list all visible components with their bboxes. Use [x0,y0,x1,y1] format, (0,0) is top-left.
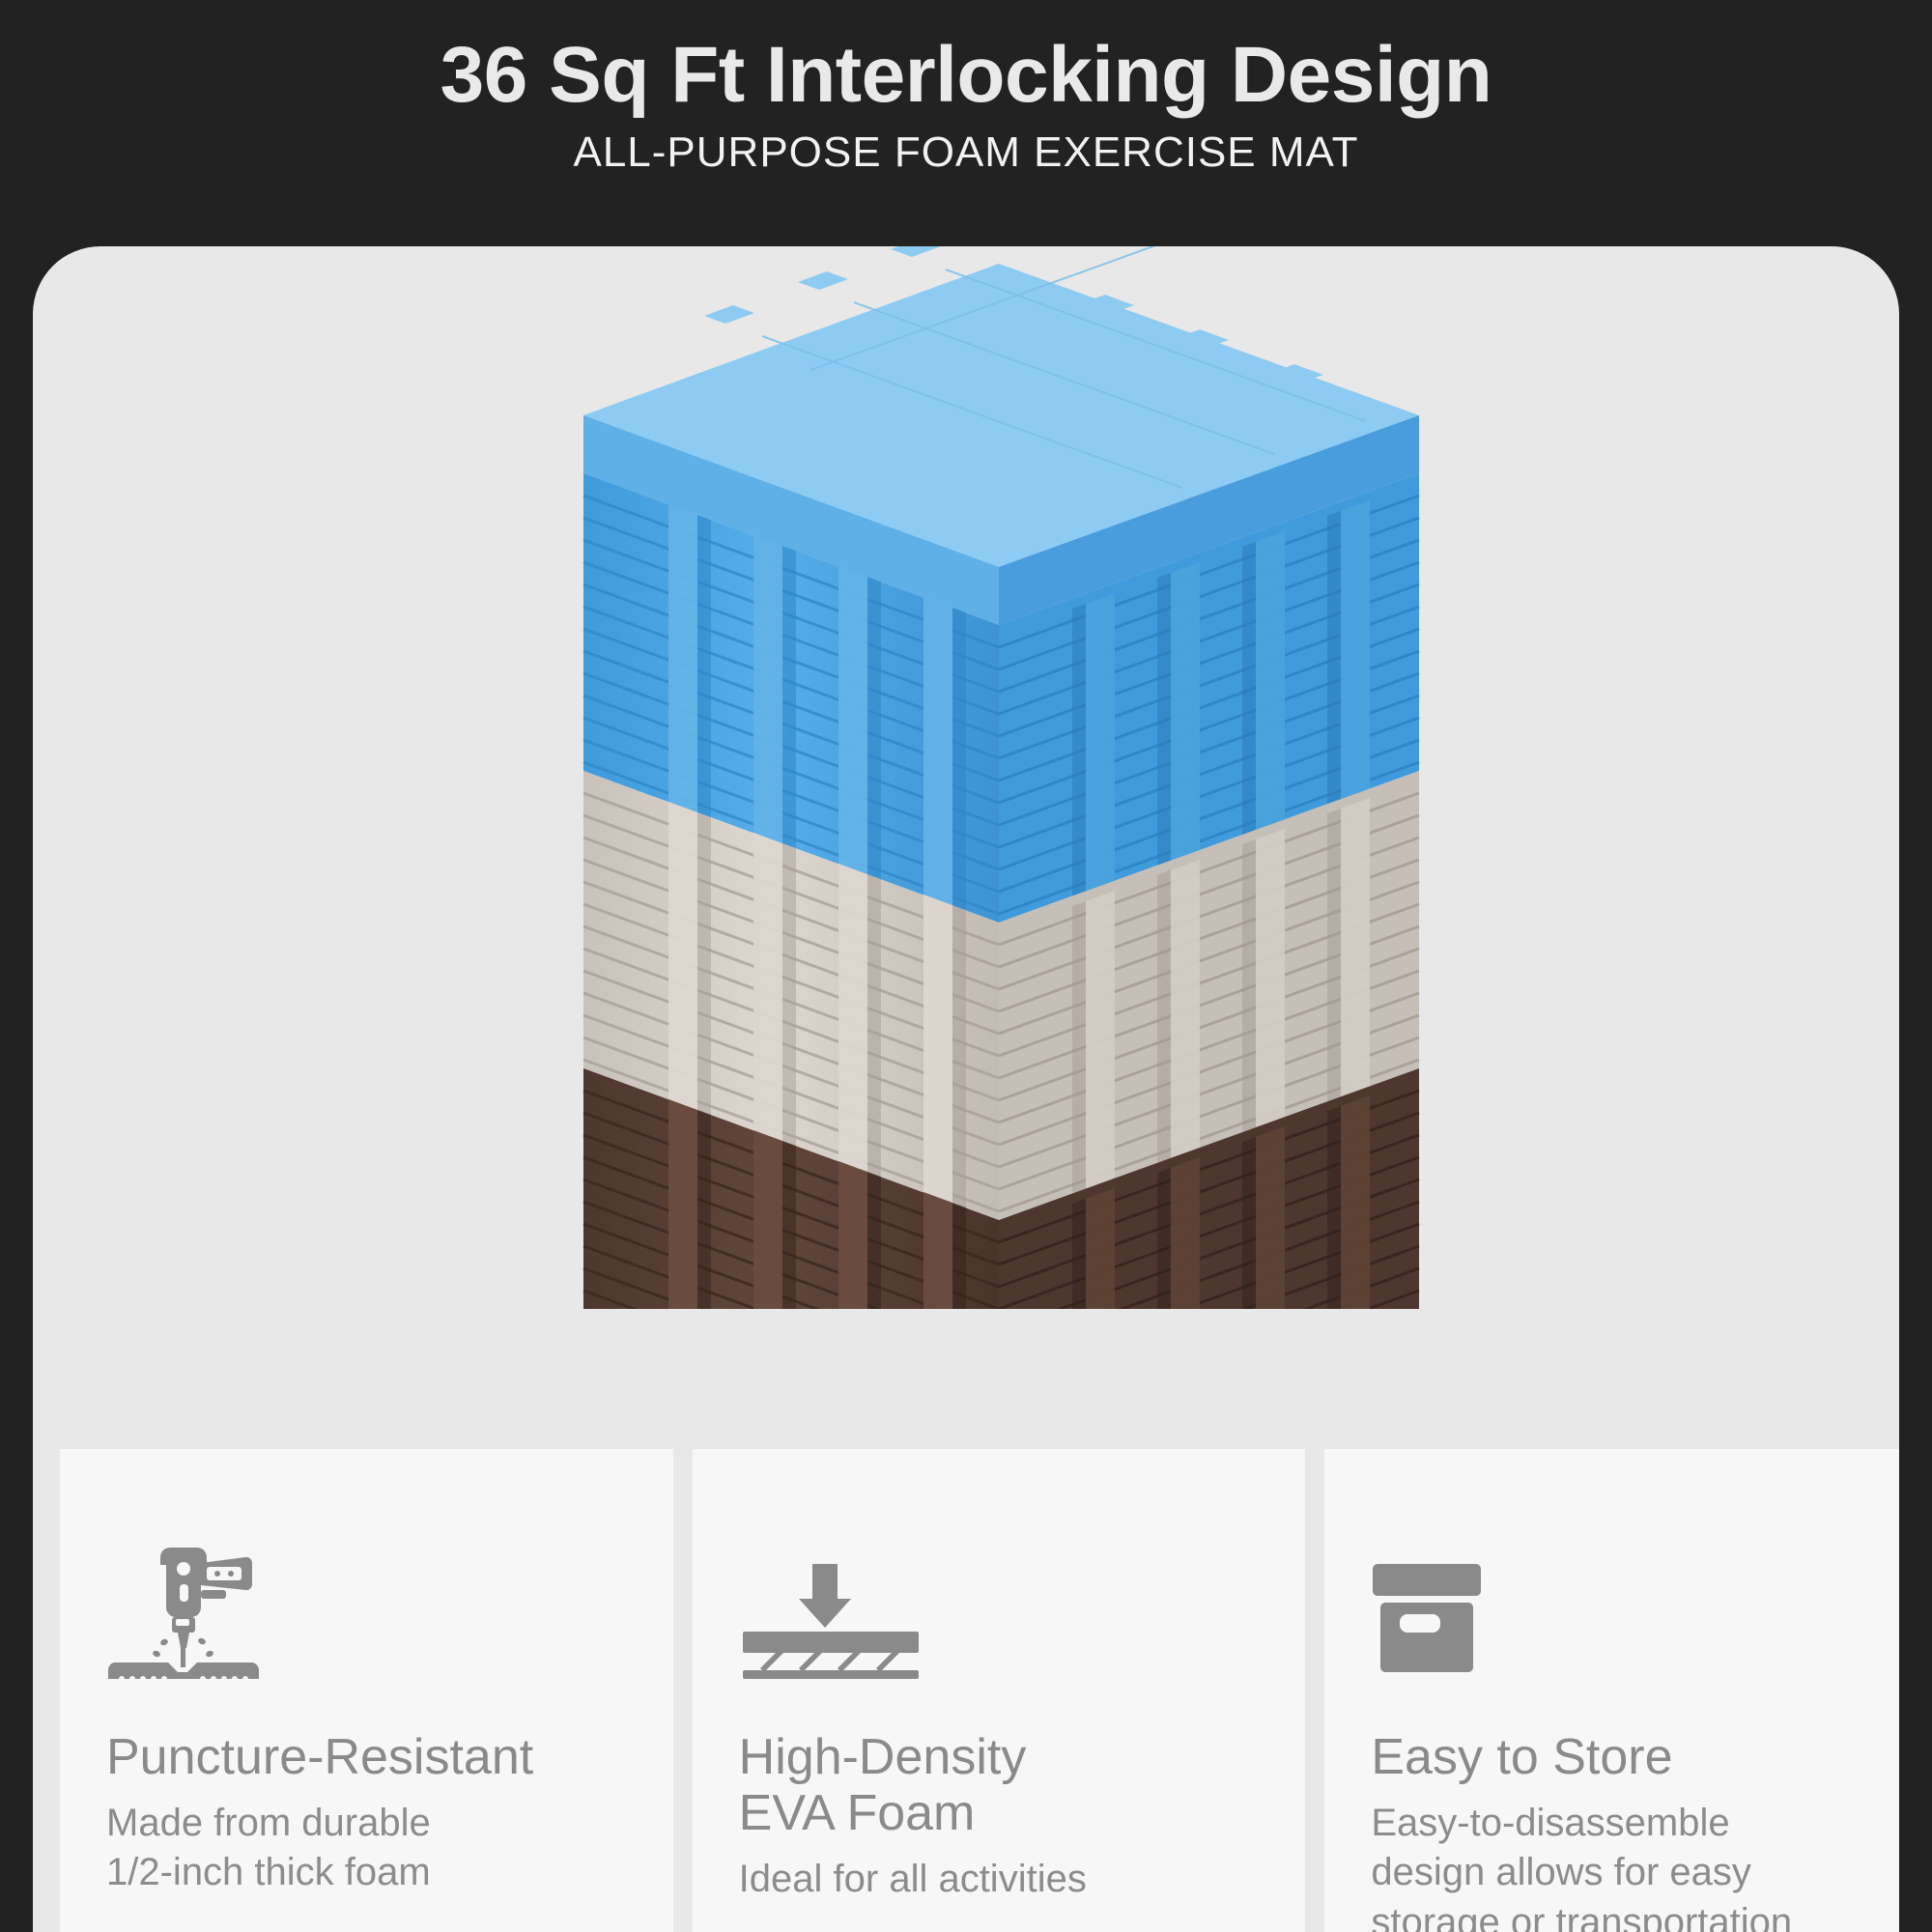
downward-pressure-mat-icon [739,1534,1260,1679]
page-title: 36 Sq Ft Interlocking Design [0,0,1932,120]
feature-card-title: Puncture-Resistant [106,1729,627,1785]
storage-box-icon [1371,1534,1891,1679]
feature-card-title: High-Density EVA Foam [739,1729,1260,1841]
feature-card-description: Made from durable 1/2-inch thick foam [106,1799,627,1897]
feature-card-description: Easy-to-disassemble design allows for ea… [1371,1799,1891,1932]
feature-card-high-density-eva-foam: High-Density EVA Foam Ideal for all acti… [693,1449,1306,1932]
feature-card-row: Puncture-Resistant Made from durable 1/2… [60,1449,1899,1932]
product-image-foam-mat-stack [545,246,1472,1309]
drill-puncture-icon [106,1534,627,1679]
feature-card-easy-to-store: Easy to Store Easy-to-disassemble design… [1324,1449,1899,1932]
feature-card-title: Easy to Store [1371,1729,1891,1785]
infographic-root: 36 Sq Ft Interlocking Design ALL-PURPOSE… [0,0,1932,1932]
feature-card-description: Ideal for all activities [739,1855,1260,1904]
header-band: 36 Sq Ft Interlocking Design ALL-PURPOSE… [0,0,1932,246]
content-panel: Puncture-Resistant Made from durable 1/2… [33,246,1899,1932]
feature-card-puncture-resistant: Puncture-Resistant Made from durable 1/2… [60,1449,673,1932]
page-subtitle: ALL-PURPOSE FOAM EXERCISE MAT [0,120,1932,176]
